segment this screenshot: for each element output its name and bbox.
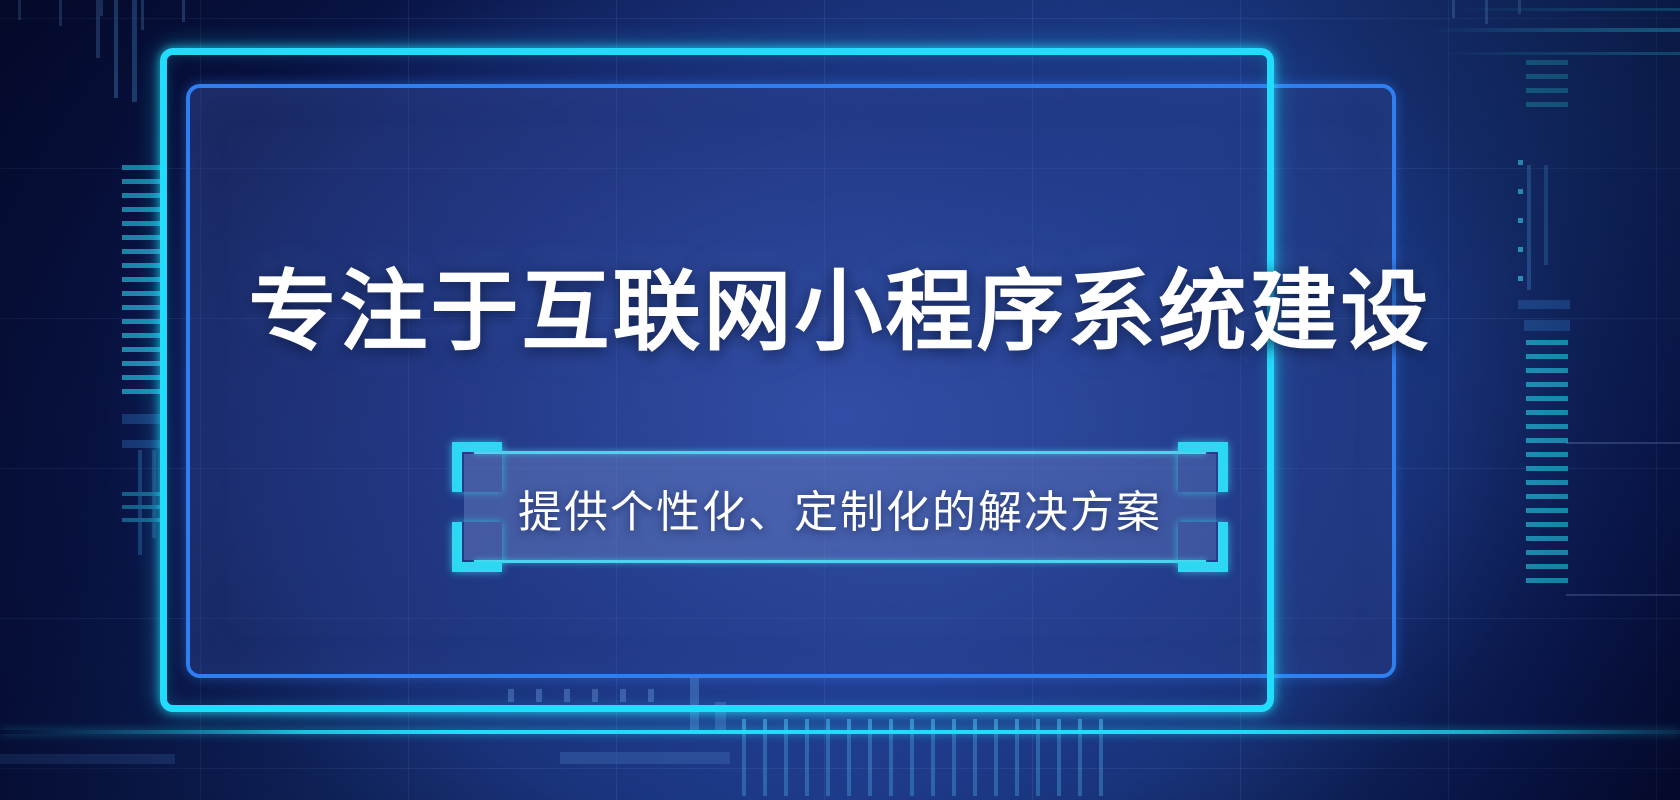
subtitle-box-top-edge <box>474 451 1206 454</box>
bracket-corner-bottom-left-icon <box>452 522 502 572</box>
page-subtitle: 提供个性化、定制化的解决方案 <box>518 476 1162 540</box>
bracket-corner-bottom-right-icon <box>1178 522 1228 572</box>
bracket-corner-top-left-icon <box>452 442 502 492</box>
hero-banner: 专注于互联网小程序系统建设 提供个性化、定制化的解决方案 <box>0 0 1680 800</box>
subtitle-bracket-box: 提供个性化、定制化的解决方案 <box>464 454 1216 560</box>
banner-content: 专注于互联网小程序系统建设 提供个性化、定制化的解决方案 <box>0 0 1680 800</box>
subtitle-box-bottom-edge <box>474 560 1206 563</box>
bracket-corner-top-right-icon <box>1178 442 1228 492</box>
page-title: 专注于互联网小程序系统建设 <box>248 241 1431 368</box>
